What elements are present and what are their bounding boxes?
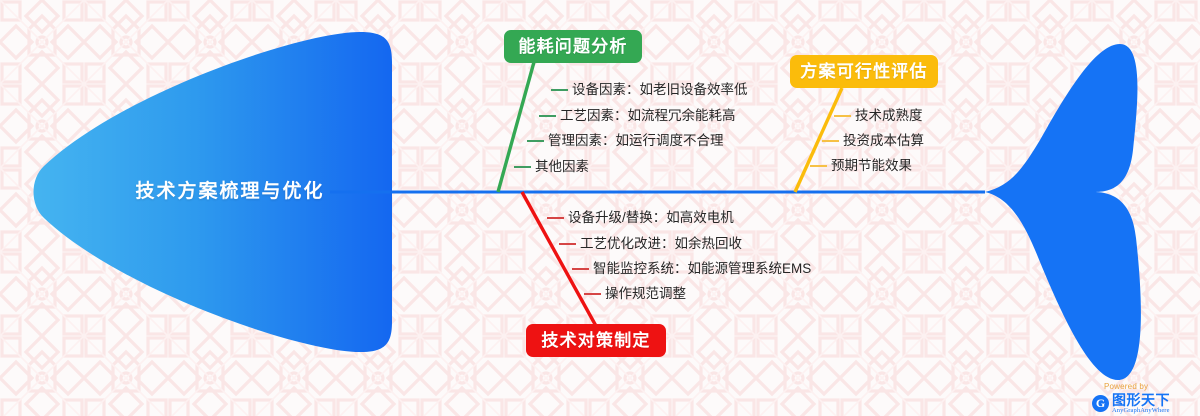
sub-item-red-1: 设备升级/替换：如高效电机 <box>568 211 734 225</box>
sub-item-green-3: 管理因素：如运行调度不合理 <box>548 134 724 148</box>
fish-tail-shape <box>985 44 1141 380</box>
category-box-countermeasures[interactable]: 技术对策制定 <box>526 324 666 357</box>
fish-head-title: 技术方案梳理与优化 <box>100 182 360 201</box>
sub-item-green-2: 工艺因素：如流程冗余能耗高 <box>560 109 736 123</box>
sub-item-yellow-3: 预期节能效果 <box>831 159 912 173</box>
sub-item-green-1: 设备因素：如老旧设备效率低 <box>572 83 748 97</box>
sub-item-green-4: 其他因素 <box>535 160 589 174</box>
sub-item-red-4: 操作规范调整 <box>605 287 686 301</box>
category-box-energy-analysis[interactable]: 能耗问题分析 <box>504 30 642 63</box>
fishbone-diagram-canvas: 技术方案梳理与优化 能耗问题分析 方案可行性评估 技术对策制定 设备因素：如老旧… <box>0 0 1200 416</box>
category-box-feasibility[interactable]: 方案可行性评估 <box>790 55 938 88</box>
sub-item-yellow-1: 技术成熟度 <box>855 109 923 123</box>
sub-item-red-2: 工艺优化改进：如余热回收 <box>580 237 742 251</box>
sub-item-yellow-2: 投资成本估算 <box>843 134 924 148</box>
branch-line-green <box>498 62 534 192</box>
sub-item-red-3: 智能监控系统：如能源管理系统EMS <box>593 262 811 276</box>
